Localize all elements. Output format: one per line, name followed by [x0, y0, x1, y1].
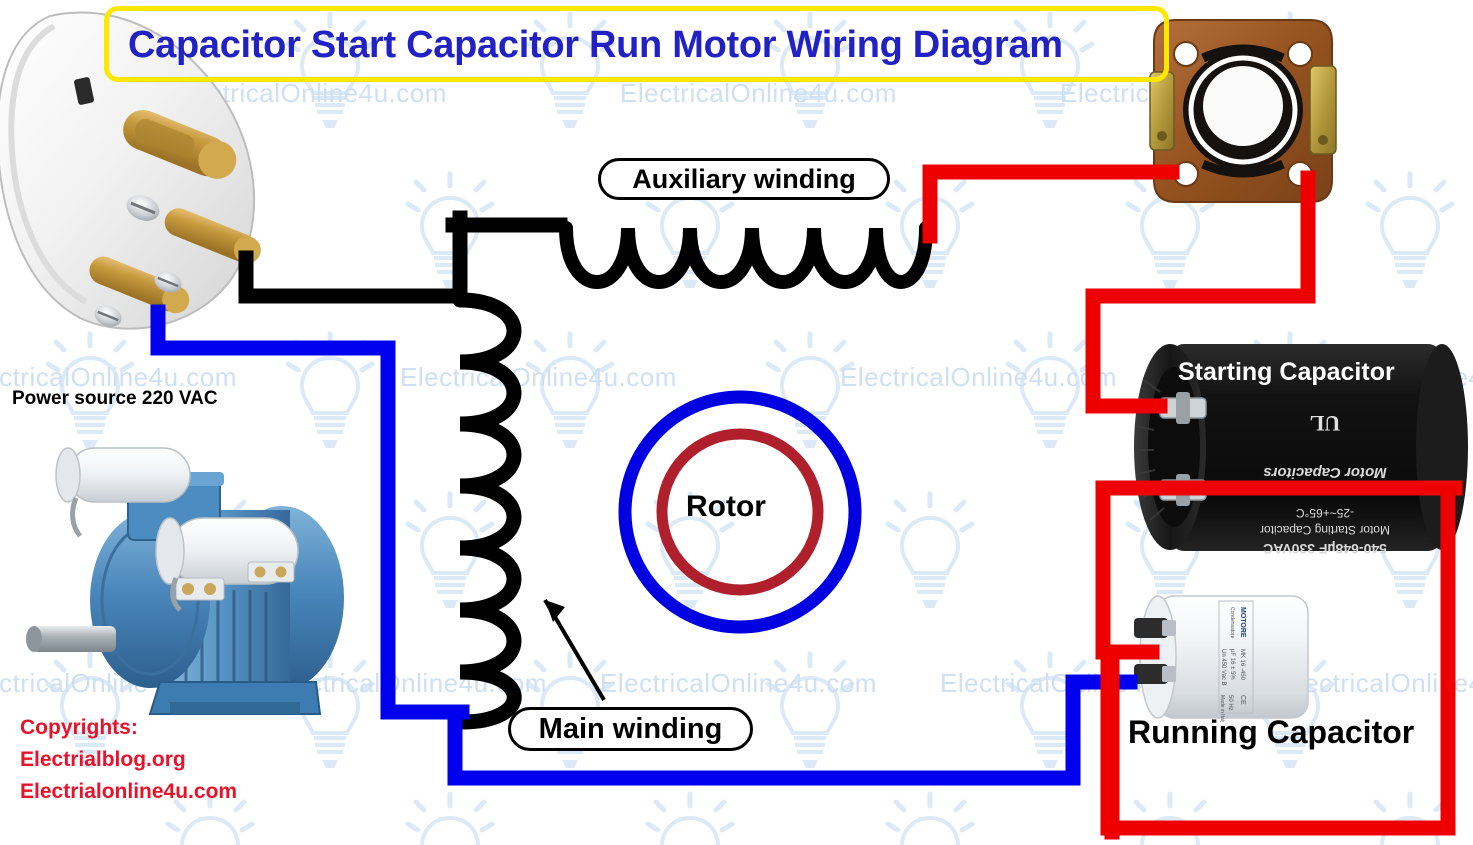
svg-text:Condensatore: Condensatore [1229, 607, 1235, 639]
wiring-diagram-canvas: ElectricalOnline4u.com ElectricalOnline4… [0, 0, 1473, 845]
svg-text:540-648µF 330VAC: 540-648µF 330VAC [1263, 541, 1387, 555]
auxiliary-winding-label: Auxiliary winding [598, 158, 890, 200]
power-source-label: Power source 220 VAC [12, 388, 218, 410]
running-capacitor-label: Running Capacitor [1128, 714, 1414, 751]
main-winding-label: Main winding [508, 707, 753, 751]
watermark-text: ElectricalOnline4u.com [620, 78, 897, 109]
svg-text:µF 16 ± 5%: µF 16 ± 5% [1229, 649, 1235, 680]
copyright-heading: Copyrights: [20, 712, 237, 744]
watermark-text: ElectricalOnline4u.com [400, 362, 677, 393]
single-phase-motor-photo [20, 430, 350, 730]
svg-text:Un 450 Vac B: Un 450 Vac B [1220, 649, 1226, 686]
copyright-line-2: Electrialonline4u.com [20, 776, 237, 808]
svg-text:MOTORE: MOTORE [1239, 607, 1246, 638]
white-run-capacitor-photo: MOTORE Condensatore MK 16 -450 µF 16 ± 5… [1128, 592, 1313, 722]
rotor-label: Rotor [686, 490, 766, 524]
starting-capacitor-label: Starting Capacitor [1178, 358, 1395, 387]
svg-text:MK 16 -450: MK 16 -450 [1239, 649, 1245, 681]
centrifugal-switch-photo [1148, 14, 1338, 209]
svg-text:50 Hz: 50 Hz [1227, 695, 1233, 711]
svg-text:Motor Starting Capacitor: Motor Starting Capacitor [1260, 523, 1390, 537]
page-title: Capacitor Start Capacitor Run Motor Wiri… [128, 24, 1168, 67]
svg-text:UL: UL [1310, 411, 1341, 436]
copyright-block: Copyrights: Electrialblog.org Electrialo… [20, 712, 237, 808]
svg-text:-25~+65°C: -25~+65°C [1296, 506, 1355, 520]
svg-text:CE: CE [1239, 695, 1246, 705]
svg-text:Motor Capacitors: Motor Capacitors [1263, 464, 1386, 481]
watermark-text: ElectricalOnline4u.com [840, 362, 1117, 393]
copyright-line-1: Electrialblog.org [20, 744, 237, 776]
watermark-text: ElectricalOnline4u.com [600, 668, 877, 699]
